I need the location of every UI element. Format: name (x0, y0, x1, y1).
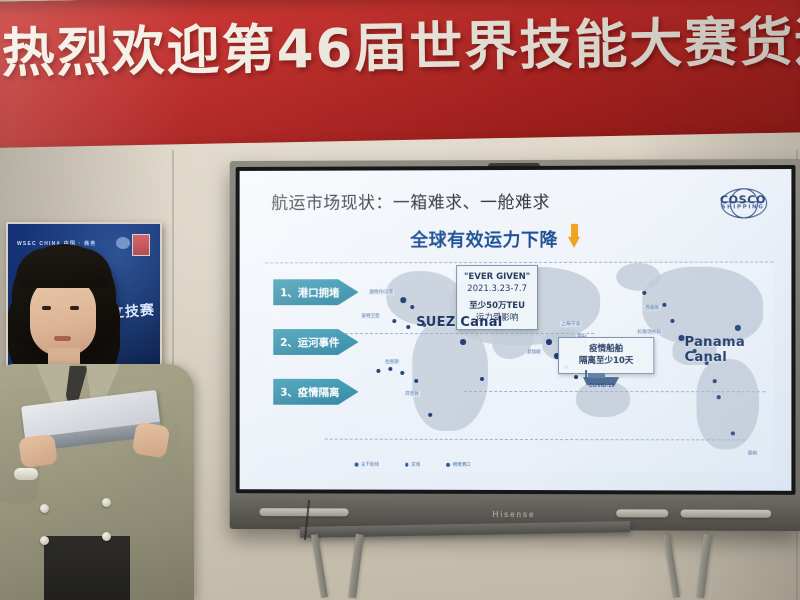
chevron-label-3: 3、疫情隔离 (280, 384, 339, 399)
cosco-shipping-logo: COSCO SHIPPING (717, 185, 769, 219)
display-screen[interactable]: 航运市场现状：一箱难求、一舱难求 全球有效运力下降 COSCO SHIPPING (240, 169, 792, 491)
chevron-label-2: 2、运河事件 (280, 335, 339, 350)
legend-label: 拥堵港口 (453, 462, 471, 468)
port-dot (460, 339, 465, 344)
port-dot (410, 305, 414, 309)
presentation-slide: 航运市场现状：一箱难求、一舱难求 全球有效运力下降 COSCO SHIPPING (240, 169, 792, 491)
stylus-tray-right-2[interactable] (616, 509, 668, 517)
port-dot (642, 291, 646, 295)
chevron-item-3[interactable]: 3、疫情隔离 (273, 379, 358, 405)
chevron-label-1: 1、港口拥堵 (280, 285, 339, 300)
panama-canal-label: Panama Canal (685, 335, 774, 365)
port-dot (731, 431, 735, 435)
port-dot (388, 367, 392, 371)
port-dot (400, 297, 405, 302)
presenter (0, 236, 200, 600)
blazer-button (40, 536, 49, 545)
callout-line: 2021.3.23-7.7 (464, 283, 530, 295)
face (30, 276, 96, 356)
legend-label: 主干航线 (361, 462, 379, 468)
map-label: 鹿特丹/汉堡 (368, 289, 394, 295)
legend-note: 图例 (748, 450, 757, 456)
covid-label: COVID-19 (589, 383, 615, 389)
landmass-south-america (697, 359, 760, 449)
legend-item: 拥堵港口 (446, 462, 470, 468)
port-dot (546, 339, 552, 345)
slide-title: 航运市场现状：一箱难求、一舱难求 (271, 188, 550, 214)
world-map: 鹿特丹/汉堡 安特卫普 长滩/洛杉矶 西雅图 新加坡 拉各斯 开普敦 上海/宁波… (265, 262, 773, 473)
down-arrow-icon (568, 224, 581, 249)
stylus-tray-left[interactable] (259, 508, 348, 516)
port-dot (428, 413, 432, 417)
blazer-button (102, 532, 111, 541)
callout-line: "EVER GIVEN" (464, 271, 530, 283)
callout-line: 疫情船舶 (566, 343, 646, 355)
trousers (44, 536, 130, 600)
port-dot (414, 379, 418, 383)
ship-icon: COVID-19 (579, 370, 621, 388)
map-legend: 主干航线 支线 拥堵港口 (355, 462, 471, 468)
port-dot (574, 375, 578, 379)
callout-line: 至少50万TEU (464, 300, 530, 312)
port-dot (713, 379, 717, 383)
port-dot (376, 369, 380, 373)
stylus-tray-right[interactable] (680, 510, 771, 518)
welcome-banner: 热烈欢迎第46届世界技能大赛货运代理项目国家 (0, 0, 800, 148)
eye-left (42, 306, 51, 310)
map-label: 拉各斯 (384, 359, 399, 365)
slide-subtitle: 全球有效运力下降 (410, 226, 558, 252)
port-dot (735, 325, 741, 331)
legend-dot-icon (355, 463, 358, 466)
banner-text: 热烈欢迎第46届世界技能大赛货运代理项目国家 (1, 14, 800, 80)
port-dot (662, 303, 666, 307)
legend-item: 主干航线 (355, 462, 379, 468)
interactive-display[interactable]: 航运市场现状：一箱难求、一舱难求 全球有效运力下降 COSCO SHIPPING (230, 159, 800, 531)
legend-dot-icon (446, 463, 449, 467)
shipping-route-3 (325, 439, 745, 441)
suez-canal-label: SUEZ Canal (416, 315, 502, 330)
photo-scene: 热烈欢迎第46届世界技能大赛货运代理项目国家 WSEC CHINA 中国 · 商… (0, 0, 800, 600)
landmass-greenland (616, 263, 660, 291)
port-dot (678, 335, 684, 341)
legend-item: 支线 (405, 462, 420, 468)
landmass-africa (412, 321, 488, 431)
port-dot (480, 377, 484, 381)
port-dot (406, 325, 410, 329)
hand-left (18, 434, 58, 469)
blazer-button (40, 504, 49, 513)
map-label: 长滩/洛杉矶 (636, 329, 662, 335)
map-label: 安特卫普 (361, 313, 381, 319)
hair-bangs (16, 248, 112, 288)
map-label: 上海/宁波 (560, 321, 581, 327)
chevron-item-1[interactable]: 1、港口拥堵 (273, 279, 358, 305)
logo-line2: SHIPPING (717, 204, 769, 210)
legend-dot-icon (405, 463, 408, 467)
quarantine-callout: 疫情船舶 隔离至少10天 COVID-19 (558, 337, 654, 374)
eye-right (70, 306, 79, 310)
mouth (54, 336, 71, 341)
bracelet (14, 468, 38, 480)
port-dot (717, 395, 721, 399)
hand-right (131, 421, 170, 458)
map-label: 新加坡 (526, 349, 542, 355)
callout-line: 隔离至少10天 (566, 355, 646, 367)
map-label: 开普敦 (404, 391, 419, 397)
legend-label: 支线 (411, 462, 420, 468)
shipping-route-2 (464, 391, 765, 392)
port-dot (392, 319, 396, 323)
blazer-button (102, 498, 111, 507)
display-brand-label: Hisense (493, 510, 536, 519)
map-label: 西雅图 (644, 305, 660, 311)
port-dot (400, 371, 404, 375)
port-dot (670, 319, 674, 323)
